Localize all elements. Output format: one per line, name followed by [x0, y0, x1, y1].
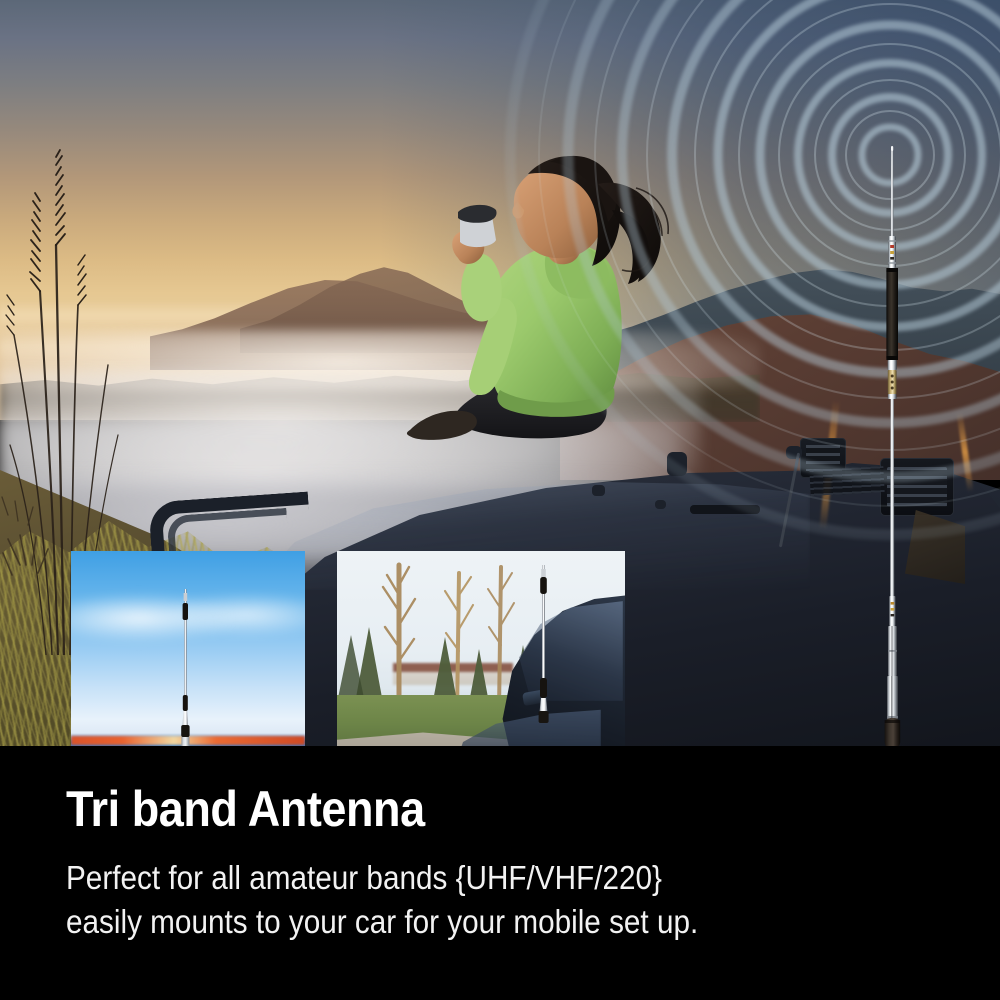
thumb2-antenna [337, 551, 625, 773]
roof-hardware-nub-1 [667, 452, 687, 476]
roof-hardware-nub-2 [592, 485, 605, 496]
subheadline-line-2: easily mounts to your car for your mobil… [66, 900, 698, 944]
roof-hardware-nub-3 [655, 500, 666, 509]
person-sitting-on-vehicle [400, 140, 680, 500]
product-headline: Tri band Antenna [66, 784, 425, 834]
roof-seam [690, 505, 760, 514]
thumbnail-antenna-sky[interactable] [71, 551, 305, 773]
product-subheadline: Perfect for all amateur bands {UHF/VHF/2… [66, 856, 698, 944]
subheadline-line-1: Perfect for all amateur bands {UHF/VHF/2… [66, 856, 698, 900]
thumb1-antenna [71, 551, 305, 773]
product-poster: Tri band Antenna Perfect for all amateur… [0, 0, 1000, 1000]
thumbnail-antenna-car-park[interactable] [337, 551, 625, 773]
antenna-product [866, 130, 922, 850]
caption-band: Tri band Antenna Perfect for all amateur… [0, 746, 1000, 1000]
